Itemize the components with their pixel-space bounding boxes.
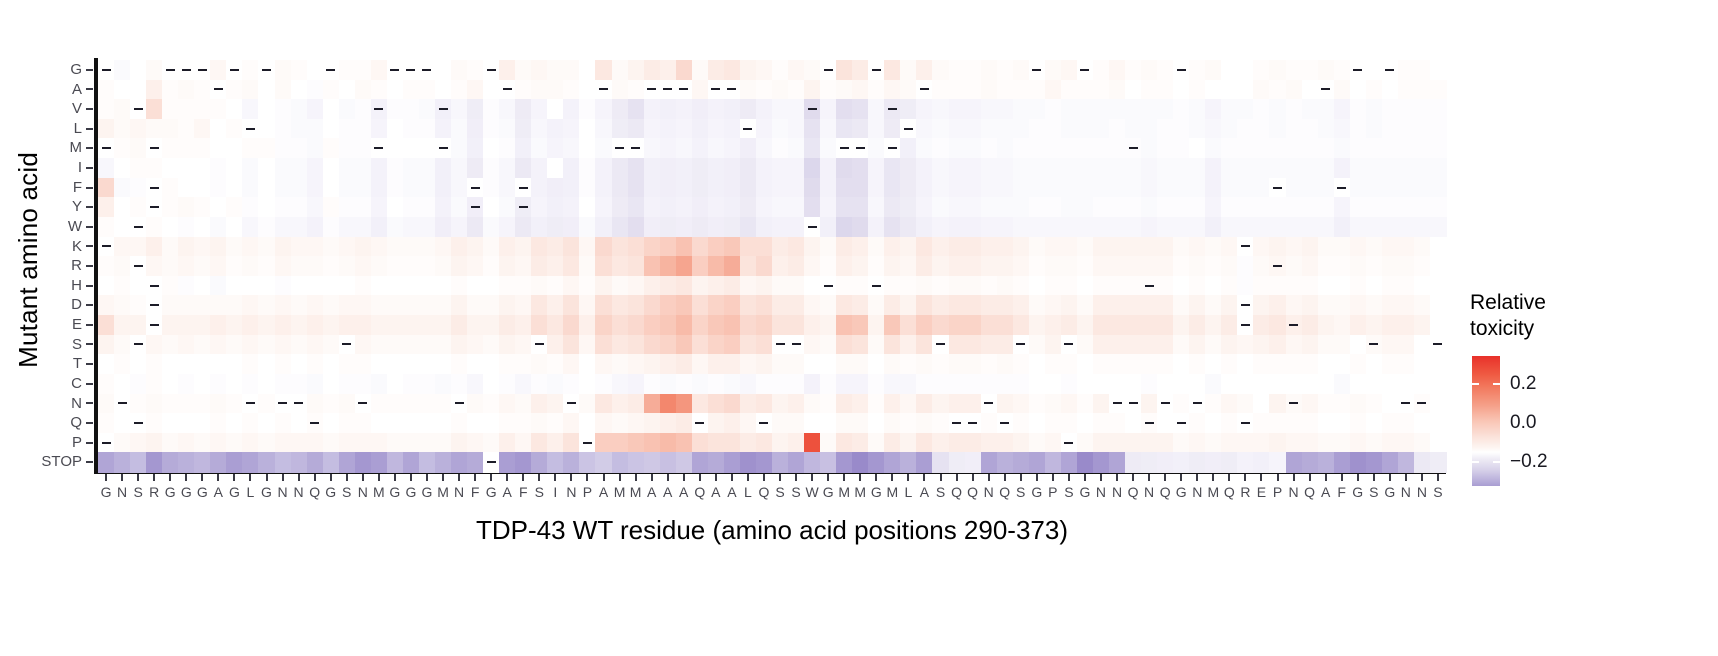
heatmap-cell[interactable] [595, 60, 612, 80]
heatmap-cell[interactable] [1045, 354, 1062, 374]
heatmap-cell[interactable] [419, 197, 436, 217]
heatmap-cell[interactable] [628, 80, 645, 100]
heatmap-cell[interactable] [1221, 237, 1238, 257]
heatmap-cell[interactable] [1029, 433, 1046, 453]
heatmap-cell[interactable] [1125, 452, 1142, 472]
heatmap-cell[interactable] [194, 217, 211, 237]
heatmap-cell[interactable] [1013, 276, 1030, 296]
heatmap-cell[interactable] [756, 237, 773, 257]
heatmap-cell[interactable] [772, 452, 789, 472]
heatmap-cell[interactable] [563, 119, 580, 139]
heatmap-cell[interactable] [339, 315, 356, 335]
heatmap-cell[interactable] [178, 178, 195, 198]
heatmap-cell[interactable] [323, 374, 340, 394]
heatmap-cell[interactable] [628, 374, 645, 394]
heatmap-cell[interactable] [997, 158, 1014, 178]
heatmap-cell[interactable] [1093, 99, 1110, 119]
heatmap-cell[interactable] [226, 413, 243, 433]
heatmap-cell[interactable] [708, 178, 725, 198]
heatmap-cell[interactable] [1269, 237, 1286, 257]
heatmap-cell[interactable] [291, 335, 308, 355]
heatmap-cell[interactable] [756, 178, 773, 198]
heatmap-cell[interactable] [949, 217, 966, 237]
heatmap-cell[interactable] [884, 433, 901, 453]
heatmap-cell[interactable] [612, 335, 629, 355]
heatmap-cell[interactable] [563, 60, 580, 80]
heatmap-cell[interactable] [1350, 256, 1367, 276]
heatmap-cell[interactable] [1302, 452, 1319, 472]
heatmap-cell[interactable] [579, 237, 596, 257]
heatmap-cell[interactable] [1302, 138, 1319, 158]
heatmap-cell[interactable] [419, 452, 436, 472]
heatmap-cell[interactable] [371, 197, 388, 217]
heatmap-cell[interactable] [451, 197, 468, 217]
heatmap-cell[interactable] [949, 60, 966, 80]
heatmap-cell[interactable] [130, 60, 147, 80]
heatmap-cell[interactable] [932, 80, 949, 100]
heatmap-cell[interactable] [660, 374, 677, 394]
heatmap-cell[interactable] [1077, 433, 1094, 453]
heatmap-cell[interactable] [178, 394, 195, 414]
heatmap-cell[interactable] [692, 295, 709, 315]
heatmap-cell[interactable] [323, 433, 340, 453]
heatmap-cell[interactable] [547, 335, 564, 355]
heatmap-cell[interactable] [836, 276, 853, 296]
heatmap-cell[interactable] [1061, 119, 1078, 139]
heatmap-cell[interactable] [563, 276, 580, 296]
heatmap-cell[interactable] [740, 295, 757, 315]
heatmap-cell[interactable] [884, 413, 901, 433]
heatmap-cell[interactable] [1045, 413, 1062, 433]
heatmap-cell[interactable] [740, 335, 757, 355]
heatmap-cell[interactable] [1318, 197, 1335, 217]
heatmap-cell[interactable] [660, 158, 677, 178]
heatmap-cell[interactable] [708, 60, 725, 80]
heatmap-cell[interactable] [547, 197, 564, 217]
heatmap-cell[interactable] [403, 158, 420, 178]
heatmap-cell[interactable] [692, 315, 709, 335]
heatmap-cell[interactable] [676, 158, 693, 178]
heatmap-cell[interactable] [1157, 335, 1174, 355]
heatmap-cell[interactable] [1221, 80, 1238, 100]
heatmap-cell[interactable] [852, 119, 869, 139]
heatmap-cell[interactable] [724, 138, 741, 158]
heatmap-cell[interactable] [483, 80, 500, 100]
heatmap-cell[interactable] [1414, 197, 1431, 217]
heatmap-cell[interactable] [852, 354, 869, 374]
heatmap-cell[interactable] [724, 374, 741, 394]
heatmap-cell[interactable] [692, 60, 709, 80]
heatmap-cell[interactable] [724, 276, 741, 296]
heatmap-cell[interactable] [1221, 335, 1238, 355]
heatmap-cell[interactable] [1109, 413, 1126, 433]
heatmap-cell[interactable] [1013, 119, 1030, 139]
heatmap-cell[interactable] [1430, 237, 1447, 257]
heatmap-cell[interactable] [916, 256, 933, 276]
heatmap-cell[interactable] [547, 60, 564, 80]
heatmap-cell[interactable] [1061, 99, 1078, 119]
heatmap-cell[interactable] [692, 394, 709, 414]
heatmap-cell[interactable] [531, 217, 548, 237]
heatmap-cell[interactable] [660, 119, 677, 139]
heatmap-cell[interactable] [1029, 158, 1046, 178]
heatmap-cell[interactable] [323, 158, 340, 178]
heatmap-cell[interactable] [194, 158, 211, 178]
heatmap-cell[interactable] [531, 413, 548, 433]
heatmap-cell[interactable] [628, 452, 645, 472]
heatmap-cell[interactable] [355, 217, 372, 237]
heatmap-cell[interactable] [178, 315, 195, 335]
heatmap-cell[interactable] [323, 197, 340, 217]
heatmap-cell[interactable] [1366, 80, 1383, 100]
heatmap-cell[interactable] [868, 335, 885, 355]
heatmap-cell[interactable] [1430, 295, 1447, 315]
heatmap-cell[interactable] [1398, 256, 1415, 276]
heatmap-cell[interactable] [692, 138, 709, 158]
heatmap-cell[interactable] [1334, 217, 1351, 237]
heatmap-cell[interactable] [114, 158, 131, 178]
heatmap-cell[interactable] [1093, 217, 1110, 237]
heatmap-cell[interactable] [1366, 197, 1383, 217]
heatmap-cell[interactable] [451, 256, 468, 276]
heatmap-cell[interactable] [612, 158, 629, 178]
heatmap-cell[interactable] [1141, 217, 1158, 237]
heatmap-cell[interactable] [419, 178, 436, 198]
heatmap-cell[interactable] [932, 295, 949, 315]
heatmap-cell[interactable] [531, 452, 548, 472]
heatmap-cell[interactable] [1013, 315, 1030, 335]
heatmap-cell[interactable] [981, 276, 998, 296]
heatmap-cell[interactable] [708, 335, 725, 355]
heatmap-cell[interactable] [194, 119, 211, 139]
heatmap-cell[interactable] [1253, 315, 1270, 335]
heatmap-cell[interactable] [1414, 158, 1431, 178]
heatmap-cell[interactable] [740, 452, 757, 472]
heatmap-cell[interactable] [884, 178, 901, 198]
heatmap-cell[interactable] [162, 256, 179, 276]
heatmap-cell[interactable] [451, 335, 468, 355]
heatmap-cell[interactable] [98, 374, 115, 394]
heatmap-cell[interactable] [531, 256, 548, 276]
heatmap-cell[interactable] [307, 374, 324, 394]
heatmap-cell[interactable] [275, 237, 292, 257]
heatmap-cell[interactable] [660, 237, 677, 257]
heatmap-cell[interactable] [515, 217, 532, 237]
heatmap-cell[interactable] [595, 335, 612, 355]
heatmap-cell[interactable] [1109, 256, 1126, 276]
heatmap-cell[interactable] [1109, 315, 1126, 335]
heatmap-cell[interactable] [1029, 237, 1046, 257]
heatmap-cell[interactable] [981, 335, 998, 355]
heatmap-cell[interactable] [258, 138, 275, 158]
heatmap-cell[interactable] [676, 295, 693, 315]
heatmap-cell[interactable] [323, 394, 340, 414]
heatmap-cell[interactable] [1350, 119, 1367, 139]
heatmap-cell[interactable] [515, 256, 532, 276]
heatmap-cell[interactable] [836, 197, 853, 217]
heatmap-cell[interactable] [1205, 178, 1222, 198]
heatmap-cell[interactable] [1414, 315, 1431, 335]
heatmap-cell[interactable] [1061, 237, 1078, 257]
heatmap-cell[interactable] [916, 394, 933, 414]
heatmap-cell[interactable] [628, 217, 645, 237]
heatmap-cell[interactable] [339, 178, 356, 198]
heatmap-cell[interactable] [1398, 452, 1415, 472]
heatmap-cell[interactable] [1221, 452, 1238, 472]
heatmap-cell[interactable] [1157, 158, 1174, 178]
heatmap-cell[interactable] [210, 237, 227, 257]
heatmap-cell[interactable] [1013, 80, 1030, 100]
heatmap-cell[interactable] [435, 354, 452, 374]
heatmap-cell[interactable] [291, 295, 308, 315]
heatmap-cell[interactable] [403, 335, 420, 355]
heatmap-cell[interactable] [483, 237, 500, 257]
heatmap-cell[interactable] [387, 256, 404, 276]
heatmap-cell[interactable] [997, 335, 1014, 355]
heatmap-cell[interactable] [1302, 237, 1319, 257]
heatmap-cell[interactable] [1221, 197, 1238, 217]
heatmap-cell[interactable] [1077, 197, 1094, 217]
heatmap-cell[interactable] [740, 374, 757, 394]
heatmap-cell[interactable] [419, 295, 436, 315]
heatmap-cell[interactable] [1350, 394, 1367, 414]
heatmap-cell[interactable] [1173, 80, 1190, 100]
heatmap-cell[interactable] [547, 295, 564, 315]
heatmap-cell[interactable] [451, 452, 468, 472]
heatmap-cell[interactable] [1093, 178, 1110, 198]
heatmap-cell[interactable] [1061, 354, 1078, 374]
heatmap-cell[interactable] [1398, 315, 1415, 335]
heatmap-cell[interactable] [162, 158, 179, 178]
heatmap-cell[interactable] [130, 433, 147, 453]
heatmap-cell[interactable] [1061, 60, 1078, 80]
heatmap-cell[interactable] [949, 197, 966, 217]
heatmap-cell[interactable] [740, 138, 757, 158]
heatmap-cell[interactable] [1013, 295, 1030, 315]
heatmap-cell[interactable] [1125, 60, 1142, 80]
heatmap-cell[interactable] [1302, 158, 1319, 178]
heatmap-cell[interactable] [226, 237, 243, 257]
heatmap-cell[interactable] [1318, 452, 1335, 472]
heatmap-cell[interactable] [724, 158, 741, 178]
heatmap-cell[interactable] [547, 217, 564, 237]
heatmap-cell[interactable] [1286, 276, 1303, 296]
heatmap-cell[interactable] [1334, 158, 1351, 178]
heatmap-cell[interactable] [708, 237, 725, 257]
heatmap-cell[interactable] [820, 197, 837, 217]
heatmap-cell[interactable] [1334, 80, 1351, 100]
heatmap-cell[interactable] [579, 217, 596, 237]
heatmap-cell[interactable] [676, 119, 693, 139]
heatmap-cell[interactable] [868, 119, 885, 139]
heatmap-cell[interactable] [788, 315, 805, 335]
heatmap-cell[interactable] [210, 217, 227, 237]
heatmap-cell[interactable] [162, 295, 179, 315]
heatmap-cell[interactable] [275, 178, 292, 198]
heatmap-cell[interactable] [258, 99, 275, 119]
heatmap-cell[interactable] [98, 197, 115, 217]
heatmap-cell[interactable] [981, 295, 998, 315]
heatmap-cell[interactable] [435, 60, 452, 80]
heatmap-cell[interactable] [1077, 315, 1094, 335]
heatmap-cell[interactable] [547, 276, 564, 296]
heatmap-cell[interactable] [1398, 413, 1415, 433]
heatmap-cell[interactable] [1125, 354, 1142, 374]
heatmap-cell[interactable] [355, 256, 372, 276]
heatmap-cell[interactable] [788, 237, 805, 257]
heatmap-cell[interactable] [868, 99, 885, 119]
heatmap-cell[interactable] [595, 413, 612, 433]
heatmap-cell[interactable] [1382, 354, 1399, 374]
heatmap-cell[interactable] [1205, 217, 1222, 237]
heatmap-cell[interactable] [275, 315, 292, 335]
heatmap-cell[interactable] [419, 374, 436, 394]
heatmap-cell[interactable] [242, 237, 259, 257]
heatmap-cell[interactable] [981, 80, 998, 100]
heatmap-cell[interactable] [1221, 374, 1238, 394]
heatmap-cell[interactable] [900, 452, 917, 472]
heatmap-cell[interactable] [1189, 433, 1206, 453]
heatmap-cell[interactable] [1093, 413, 1110, 433]
heatmap-cell[interactable] [258, 295, 275, 315]
heatmap-cell[interactable] [949, 452, 966, 472]
heatmap-cell[interactable] [772, 256, 789, 276]
heatmap-cell[interactable] [1398, 119, 1415, 139]
heatmap-cell[interactable] [419, 119, 436, 139]
heatmap-cell[interactable] [483, 374, 500, 394]
heatmap-cell[interactable] [307, 452, 324, 472]
heatmap-cell[interactable] [387, 276, 404, 296]
heatmap-cell[interactable] [130, 315, 147, 335]
heatmap-cell[interactable] [1125, 80, 1142, 100]
heatmap-cell[interactable] [210, 413, 227, 433]
heatmap-cell[interactable] [1414, 413, 1431, 433]
heatmap-cell[interactable] [965, 138, 982, 158]
heatmap-cell[interactable] [1237, 138, 1254, 158]
heatmap-cell[interactable] [612, 413, 629, 433]
heatmap-cell[interactable] [1269, 276, 1286, 296]
heatmap-cell[interactable] [965, 295, 982, 315]
heatmap-cell[interactable] [467, 99, 484, 119]
heatmap-cell[interactable] [1189, 276, 1206, 296]
heatmap-cell[interactable] [1013, 60, 1030, 80]
heatmap-cell[interactable] [339, 99, 356, 119]
heatmap-cell[interactable] [1061, 217, 1078, 237]
heatmap-cell[interactable] [1061, 374, 1078, 394]
heatmap-cell[interactable] [820, 394, 837, 414]
heatmap-cell[interactable] [1302, 256, 1319, 276]
heatmap-cell[interactable] [1045, 138, 1062, 158]
heatmap-cell[interactable] [1302, 295, 1319, 315]
heatmap-cell[interactable] [692, 80, 709, 100]
heatmap-cell[interactable] [852, 80, 869, 100]
heatmap-cell[interactable] [579, 158, 596, 178]
heatmap-cell[interactable] [852, 217, 869, 237]
heatmap-cell[interactable] [531, 119, 548, 139]
heatmap-cell[interactable] [1013, 354, 1030, 374]
heatmap-cell[interactable] [451, 295, 468, 315]
heatmap-cell[interactable] [772, 433, 789, 453]
heatmap-cell[interactable] [1318, 138, 1335, 158]
heatmap-cell[interactable] [178, 452, 195, 472]
heatmap-cell[interactable] [932, 158, 949, 178]
heatmap-cell[interactable] [772, 315, 789, 335]
heatmap-cell[interactable] [98, 452, 115, 472]
heatmap-cell[interactable] [756, 256, 773, 276]
heatmap-cell[interactable] [146, 217, 163, 237]
heatmap-cell[interactable] [467, 413, 484, 433]
heatmap-cell[interactable] [547, 138, 564, 158]
heatmap-cell[interactable] [676, 452, 693, 472]
heatmap-cell[interactable] [178, 335, 195, 355]
heatmap-cell[interactable] [114, 237, 131, 257]
heatmap-cell[interactable] [1061, 413, 1078, 433]
heatmap-cell[interactable] [499, 433, 516, 453]
heatmap-cell[interactable] [740, 197, 757, 217]
heatmap-cell[interactable] [1414, 80, 1431, 100]
heatmap-cell[interactable] [820, 119, 837, 139]
heatmap-cell[interactable] [1334, 354, 1351, 374]
heatmap-cell[interactable] [900, 80, 917, 100]
heatmap-cell[interactable] [1061, 178, 1078, 198]
heatmap-cell[interactable] [836, 335, 853, 355]
heatmap-cell[interactable] [1157, 80, 1174, 100]
heatmap-cell[interactable] [788, 433, 805, 453]
heatmap-cell[interactable] [997, 354, 1014, 374]
heatmap-cell[interactable] [98, 217, 115, 237]
heatmap-cell[interactable] [547, 237, 564, 257]
heatmap-cell[interactable] [210, 138, 227, 158]
heatmap-cell[interactable] [1221, 315, 1238, 335]
heatmap-cell[interactable] [258, 256, 275, 276]
heatmap-cell[interactable] [130, 374, 147, 394]
heatmap-cell[interactable] [981, 256, 998, 276]
heatmap-cell[interactable] [852, 197, 869, 217]
heatmap-cell[interactable] [1221, 394, 1238, 414]
heatmap-cell[interactable] [1141, 60, 1158, 80]
heatmap-cell[interactable] [692, 276, 709, 296]
heatmap-cell[interactable] [1302, 119, 1319, 139]
heatmap-cell[interactable] [1237, 99, 1254, 119]
heatmap-cell[interactable] [1077, 237, 1094, 257]
heatmap-cell[interactable] [772, 178, 789, 198]
heatmap-cell[interactable] [788, 138, 805, 158]
heatmap-cell[interactable] [1237, 394, 1254, 414]
heatmap-cell[interactable] [435, 237, 452, 257]
heatmap-cell[interactable] [644, 99, 661, 119]
heatmap-cell[interactable] [1189, 237, 1206, 257]
heatmap-cell[interactable] [1350, 413, 1367, 433]
heatmap-cell[interactable] [949, 80, 966, 100]
heatmap-cell[interactable] [451, 119, 468, 139]
heatmap-cell[interactable] [900, 354, 917, 374]
heatmap-cell[interactable] [1334, 138, 1351, 158]
heatmap-cell[interactable] [323, 276, 340, 296]
heatmap-cell[interactable] [178, 256, 195, 276]
heatmap-cell[interactable] [676, 60, 693, 80]
heatmap-cell[interactable] [884, 237, 901, 257]
heatmap-cell[interactable] [467, 452, 484, 472]
heatmap-cell[interactable] [291, 354, 308, 374]
heatmap-cell[interactable] [1414, 237, 1431, 257]
heatmap-cell[interactable] [1318, 335, 1335, 355]
heatmap-cell[interactable] [403, 237, 420, 257]
heatmap-cell[interactable] [114, 452, 131, 472]
heatmap-cell[interactable] [788, 295, 805, 315]
heatmap-cell[interactable] [692, 335, 709, 355]
heatmap-cell[interactable] [1302, 197, 1319, 217]
heatmap-cell[interactable] [820, 433, 837, 453]
